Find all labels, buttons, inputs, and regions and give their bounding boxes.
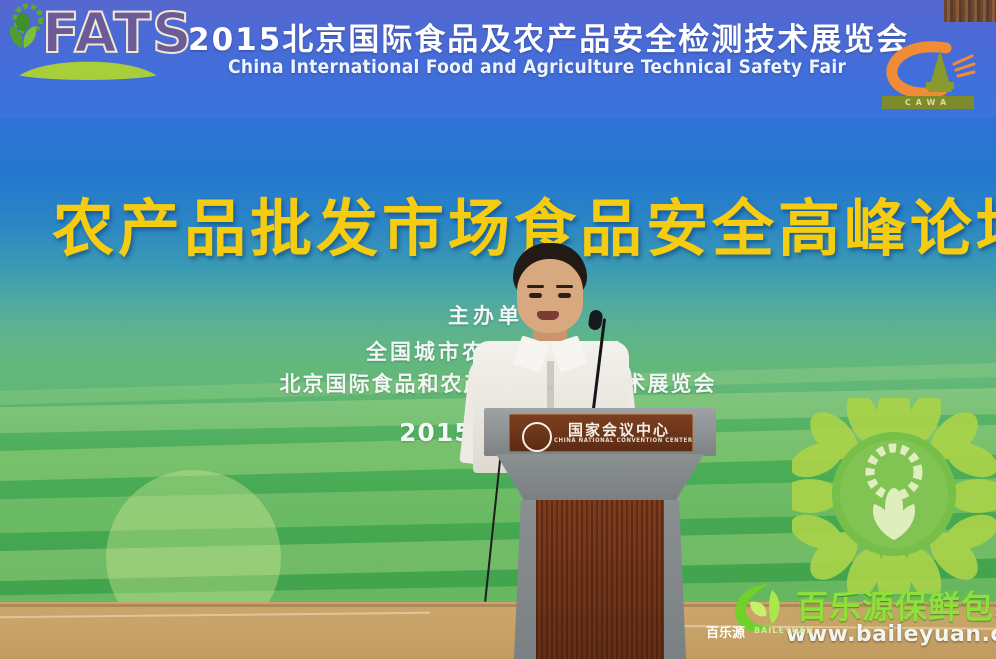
podium: 国家会议中心 CHINA NATIONAL CONVENTION CENTER <box>484 408 716 659</box>
watermark-badge: 百乐源 BAILEYUAN <box>706 622 784 640</box>
watermark-url: www.baileyuan.cn <box>786 622 996 647</box>
podium-sign-en: CHINA NATIONAL CONVENTION CENTER <box>554 437 688 444</box>
fats-wordmark: FATS <box>42 6 193 61</box>
podium-skirt <box>496 454 704 502</box>
banner-title-en: China International Food and Agriculture… <box>228 56 928 78</box>
watermark-badge-cn: 百乐源 <box>706 622 745 641</box>
speaker-brow <box>556 285 573 288</box>
cawa-band: CAWA <box>882 96 974 109</box>
watermark-badge-en: BAILEYUAN <box>754 626 814 635</box>
cawa-wheat-icon <box>876 38 980 100</box>
podium-sign: 国家会议中心 CHINA NATIONAL CONVENTION CENTER <box>509 414 693 452</box>
sunflower-gear-leaf-icon <box>792 398 996 594</box>
speaker-shirt-button <box>547 385 553 391</box>
cawa-wordmark: CAWA <box>882 96 974 109</box>
cawa-logo: CAWA <box>876 38 980 114</box>
watermark: 百乐源保鲜包装 www.baileyuan.cn 百乐源 BAILEYUAN <box>700 578 996 648</box>
fats-swoosh <box>2 58 174 80</box>
speaker-mouth <box>537 311 559 320</box>
speaker-eye <box>558 293 571 298</box>
podium-wood-panel <box>536 500 664 659</box>
ccnc-mark-icon <box>522 422 552 452</box>
ceiling-wood-trim <box>944 0 996 22</box>
speaker-face <box>517 259 583 333</box>
speaker-eye <box>529 293 542 298</box>
speaker-brow <box>527 285 544 288</box>
photo-canvas: FATS 2015北京国际食品及农产品安全检测技术展览会 China Inter… <box>0 0 996 659</box>
fats-logo: FATS <box>2 0 174 82</box>
banner-title-cn: 2015北京国际食品及农产品安全检测技术展览会 <box>188 14 868 59</box>
